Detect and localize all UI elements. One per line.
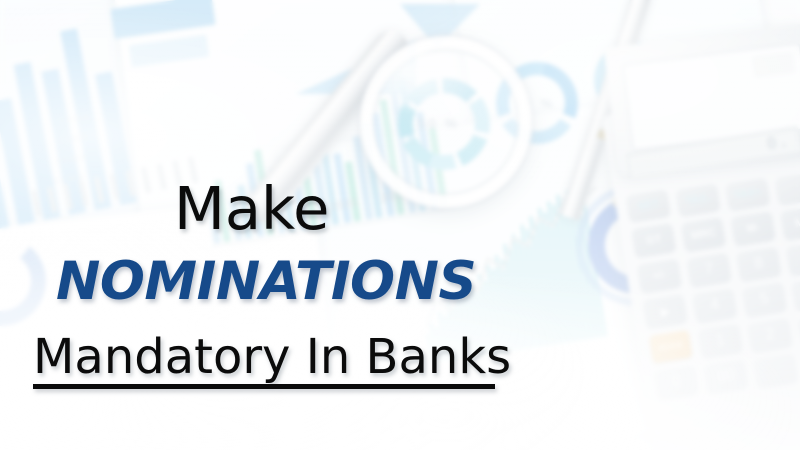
- title-card-canvas: 0.8 MLN 0.6 MLN 0.4 MLN 0.2 MLN: [0, 0, 800, 450]
- headline-line-3-group: Mandatory In Banks: [33, 333, 511, 381]
- title-text-overlay: Make NOMINATIONS Mandatory In Banks: [0, 0, 800, 450]
- headline-line-3: Mandatory In Banks: [33, 333, 511, 381]
- headline-underline: [33, 384, 495, 389]
- headline-line-1: Make: [174, 179, 329, 238]
- headline-line-2-nominations: NOMINATIONS: [56, 255, 476, 308]
